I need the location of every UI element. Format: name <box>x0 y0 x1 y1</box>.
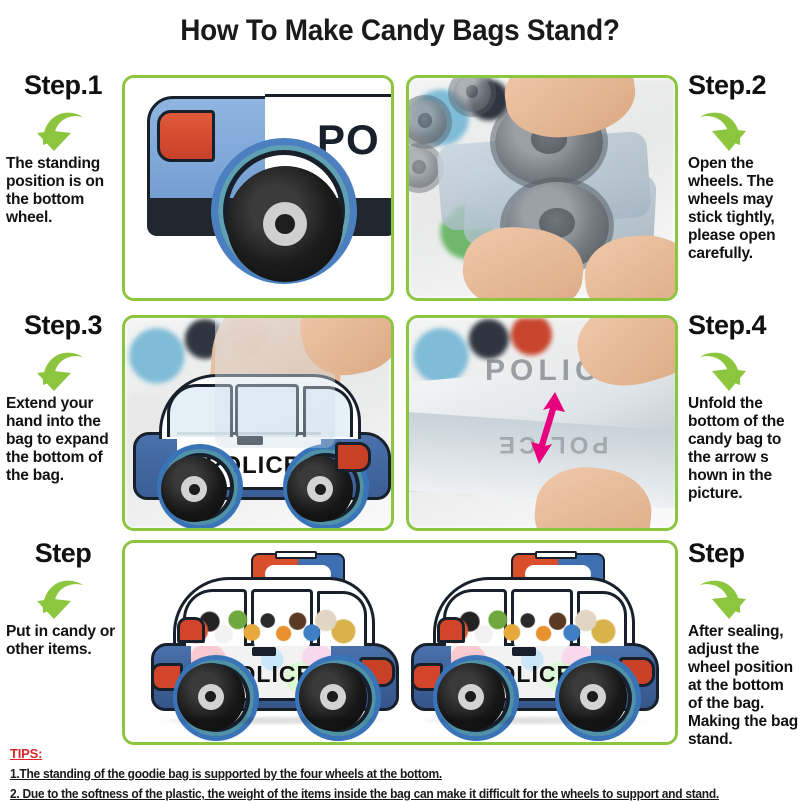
step-2-heading: Step.2 <box>680 72 798 99</box>
candy-bag-car-left: POLICE <box>147 551 397 729</box>
step-5-heading: Step <box>2 540 120 567</box>
step-2-text-block: Step.2 Open the wheels. The wheels may s… <box>680 72 798 263</box>
curved-down-arrow-icon <box>2 341 120 393</box>
photo-unfolding-bottom: POLICE POLICE <box>409 318 675 528</box>
candy-fill <box>185 609 361 645</box>
photo-hands-opening-wheels <box>409 78 675 298</box>
wheel-hub-center-front <box>205 691 216 702</box>
step-4-heading: Step.4 <box>680 312 798 339</box>
tips-section: TIPS: 1.The standing of the goodie bag i… <box>10 746 800 801</box>
step-3-heading: Step.3 <box>2 312 120 339</box>
step-4-body: Unfold the bottom of the candy bag to th… <box>680 395 798 503</box>
step-5-body: Put in candy or other items. <box>2 623 120 659</box>
tips-line-2: 2. Due to the softness of the plastic, t… <box>10 787 768 801</box>
taillight-icon <box>335 442 371 472</box>
steps-row-3: Step Put in candy or other items. <box>0 540 800 745</box>
step-4-text-block: Step.4 Unfold the bottom of the candy ba… <box>680 312 798 503</box>
steps-row-1: Step.1 The standing position is on the b… <box>0 72 800 304</box>
step-6-body: After sealing, adjust the wheel position… <box>680 623 798 749</box>
tips-line-1: 1.The standing of the goodie bag is supp… <box>10 767 768 781</box>
cartoon-car-closeup: PO <box>125 78 391 298</box>
wheel-hub-center <box>275 214 295 234</box>
light-bar-top <box>535 551 577 559</box>
step-3-text-block: Step.3 Extend your hand into the bag to … <box>2 312 120 485</box>
step-1-heading: Step.1 <box>2 72 120 99</box>
steps-row-2: Step.3 Extend your hand into the bag to … <box>0 312 800 534</box>
wheel-hub-center-rear <box>327 691 338 702</box>
pink-double-arrow-icon <box>525 386 571 468</box>
car-door-handle <box>252 647 276 656</box>
panel-step-5: POLICE <box>122 540 678 745</box>
light-bar-top <box>275 551 317 559</box>
panel-step-2 <box>406 75 678 301</box>
step-1-body: The standing position is on the bottom w… <box>2 155 120 227</box>
panel-step-1: PO <box>122 75 394 301</box>
page-title: How To Make Candy Bags Stand? <box>28 14 772 48</box>
step-1-text-block: Step.1 The standing position is on the b… <box>2 72 120 227</box>
panel-step-4: POLICE POLICE <box>406 315 678 531</box>
step-6-heading: Step <box>680 540 798 567</box>
curved-down-arrow-icon <box>680 569 798 621</box>
step-2-body: Open the wheels. The wheels may stick ti… <box>680 155 798 263</box>
candy-fill <box>445 609 621 645</box>
ground-shadow <box>417 717 649 724</box>
tips-heading: TIPS: <box>10 746 800 761</box>
step-5-text-block: Step Put in candy or other items. <box>2 540 120 659</box>
panel-step-3: POLICE <box>122 315 394 531</box>
wheel-hub-center-rear <box>587 691 598 702</box>
wheel-hub-center-front <box>465 691 476 702</box>
curved-down-arrow-icon <box>2 569 120 621</box>
candy-bag-car-right: POLICE <box>407 551 657 729</box>
beacon-icon <box>177 617 205 643</box>
wheel-hub-center-front <box>189 484 200 495</box>
beacon-icon <box>437 617 465 643</box>
ground-shadow <box>157 717 389 724</box>
wheel-hub-center-rear <box>315 484 326 495</box>
taillight-icon <box>157 110 215 162</box>
step-6-text-block: Step After sealing, adjust the wheel pos… <box>680 540 798 749</box>
curved-down-arrow-icon <box>2 101 120 153</box>
step-3-body: Extend your hand into the bag to expand … <box>2 395 120 485</box>
two-standing-candy-bags: POLICE <box>125 543 675 742</box>
photo-hand-in-bag: POLICE <box>125 318 391 528</box>
curved-down-arrow-icon <box>680 341 798 393</box>
background-wheel <box>453 75 491 112</box>
curved-down-arrow-icon <box>680 101 798 153</box>
car-door-handle <box>512 647 536 656</box>
